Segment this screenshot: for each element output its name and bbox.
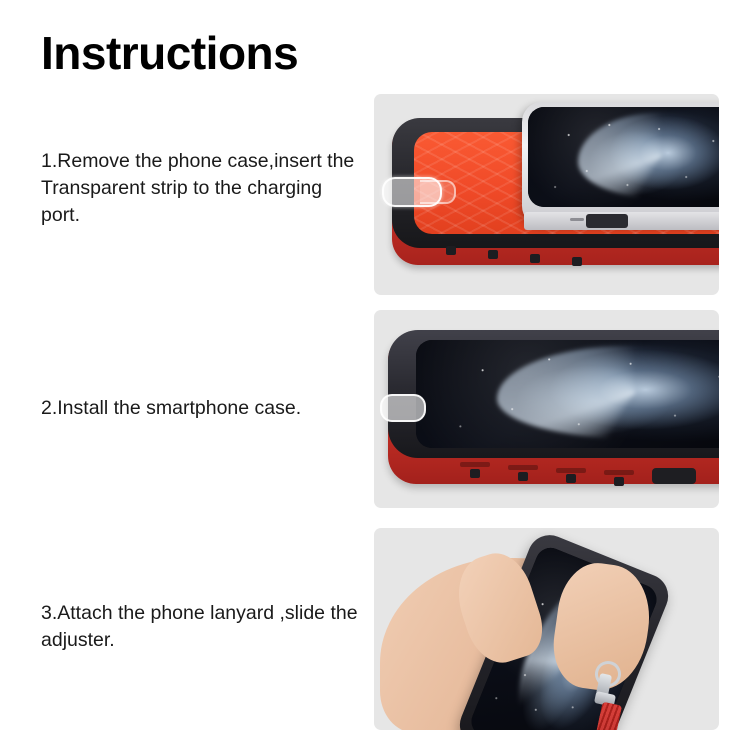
case-rubber-nub — [470, 469, 480, 478]
case-rubber-nub — [488, 250, 498, 259]
smartphone-body — [522, 102, 719, 226]
panel-2-scene — [374, 310, 719, 508]
steps-column: 1.Remove the phone case,insert the Trans… — [0, 0, 374, 750]
instruction-photo-1 — [374, 94, 719, 295]
case-rubber-nub — [530, 254, 540, 263]
transparent-strip-loop — [380, 394, 426, 422]
case-vent-tab — [556, 468, 586, 473]
case-rubber-nub — [572, 257, 582, 266]
instructions-page: Instructions 1.Remove the phone case,ins… — [0, 0, 750, 750]
smartphone-screen — [416, 340, 719, 448]
case-rubber-nub — [446, 246, 456, 255]
charging-port — [586, 214, 628, 228]
wave-wallpaper — [528, 107, 719, 207]
panel-3-scene — [374, 528, 719, 730]
wave-swirl-shape — [578, 113, 719, 199]
step-1-text: 1.Remove the phone case,insert the Trans… — [41, 148, 363, 229]
transparent-strip-loop — [382, 177, 442, 207]
step-2-text: 2.Install the smartphone case. — [41, 395, 363, 422]
case-rubber-nub — [566, 474, 576, 483]
case-vent-tab — [508, 465, 538, 470]
step-3-text: 3.Attach the phone lanyard ,slide the ad… — [41, 600, 363, 654]
case-vent-tab — [460, 462, 490, 467]
case-grip-block — [652, 468, 696, 484]
microphone-slot — [570, 218, 584, 221]
case-rubber-nub — [614, 477, 624, 486]
instruction-photo-2 — [374, 310, 719, 508]
instruction-photo-3 — [374, 528, 719, 730]
wave-swirl-shape — [497, 346, 719, 439]
smartphone-screen — [528, 107, 719, 207]
case-rubber-nub — [518, 472, 528, 481]
wave-wallpaper — [416, 340, 719, 448]
panel-1-scene — [374, 94, 719, 295]
case-vent-tab — [604, 470, 634, 475]
